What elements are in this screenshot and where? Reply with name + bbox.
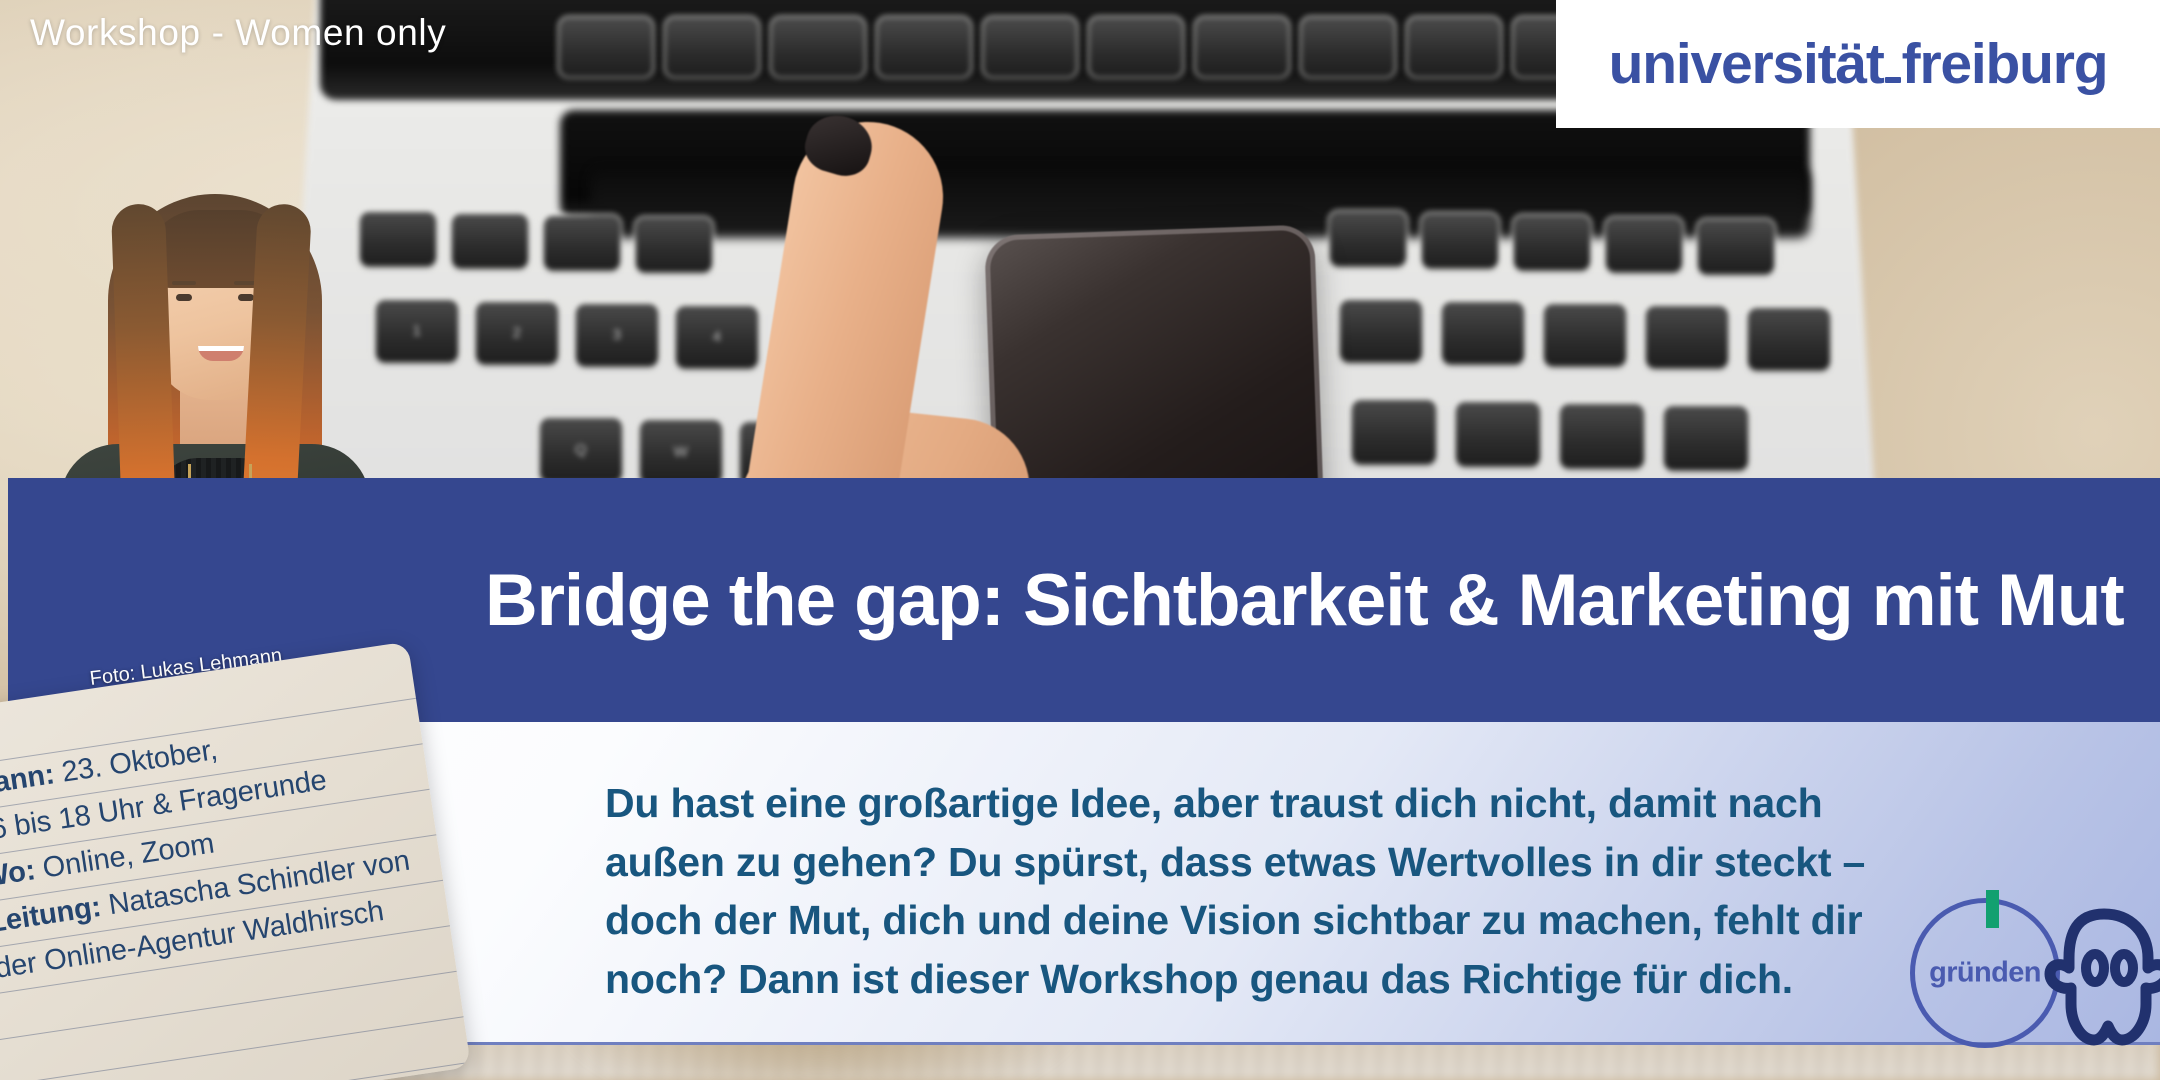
card-label-wo: Wo: xyxy=(0,854,37,894)
university-logo-wordmark: universität freiburg xyxy=(1609,31,2108,97)
eye-right xyxy=(238,294,254,301)
eyebrow-left xyxy=(172,281,196,285)
gruenden-accent-mark-icon xyxy=(1986,890,1999,928)
logo-part-freiburg: freiburg xyxy=(1902,31,2108,97)
event-details-card: Wann: 23. Oktober, 16 bis 18 Uhr & Frage… xyxy=(0,641,471,1080)
ghost-icon xyxy=(2038,906,2160,1046)
kicker-label: Workshop - Women only xyxy=(30,12,446,54)
card-label-wann: Wann: xyxy=(0,758,57,803)
eye-left xyxy=(176,294,192,301)
poster-canvas: Q W E R 1 2 3 4 xyxy=(0,0,2160,1080)
logo-separator-icon xyxy=(1885,77,1901,83)
page-title: Bridge the gap: Sichtbarkeit & Marketing… xyxy=(485,559,2124,642)
university-logo: universität freiburg xyxy=(1556,0,2160,128)
logo-part-universitaet: universität xyxy=(1609,31,1884,97)
body-paragraph: Du hast eine großartige Idee, aber traus… xyxy=(605,774,1895,1009)
